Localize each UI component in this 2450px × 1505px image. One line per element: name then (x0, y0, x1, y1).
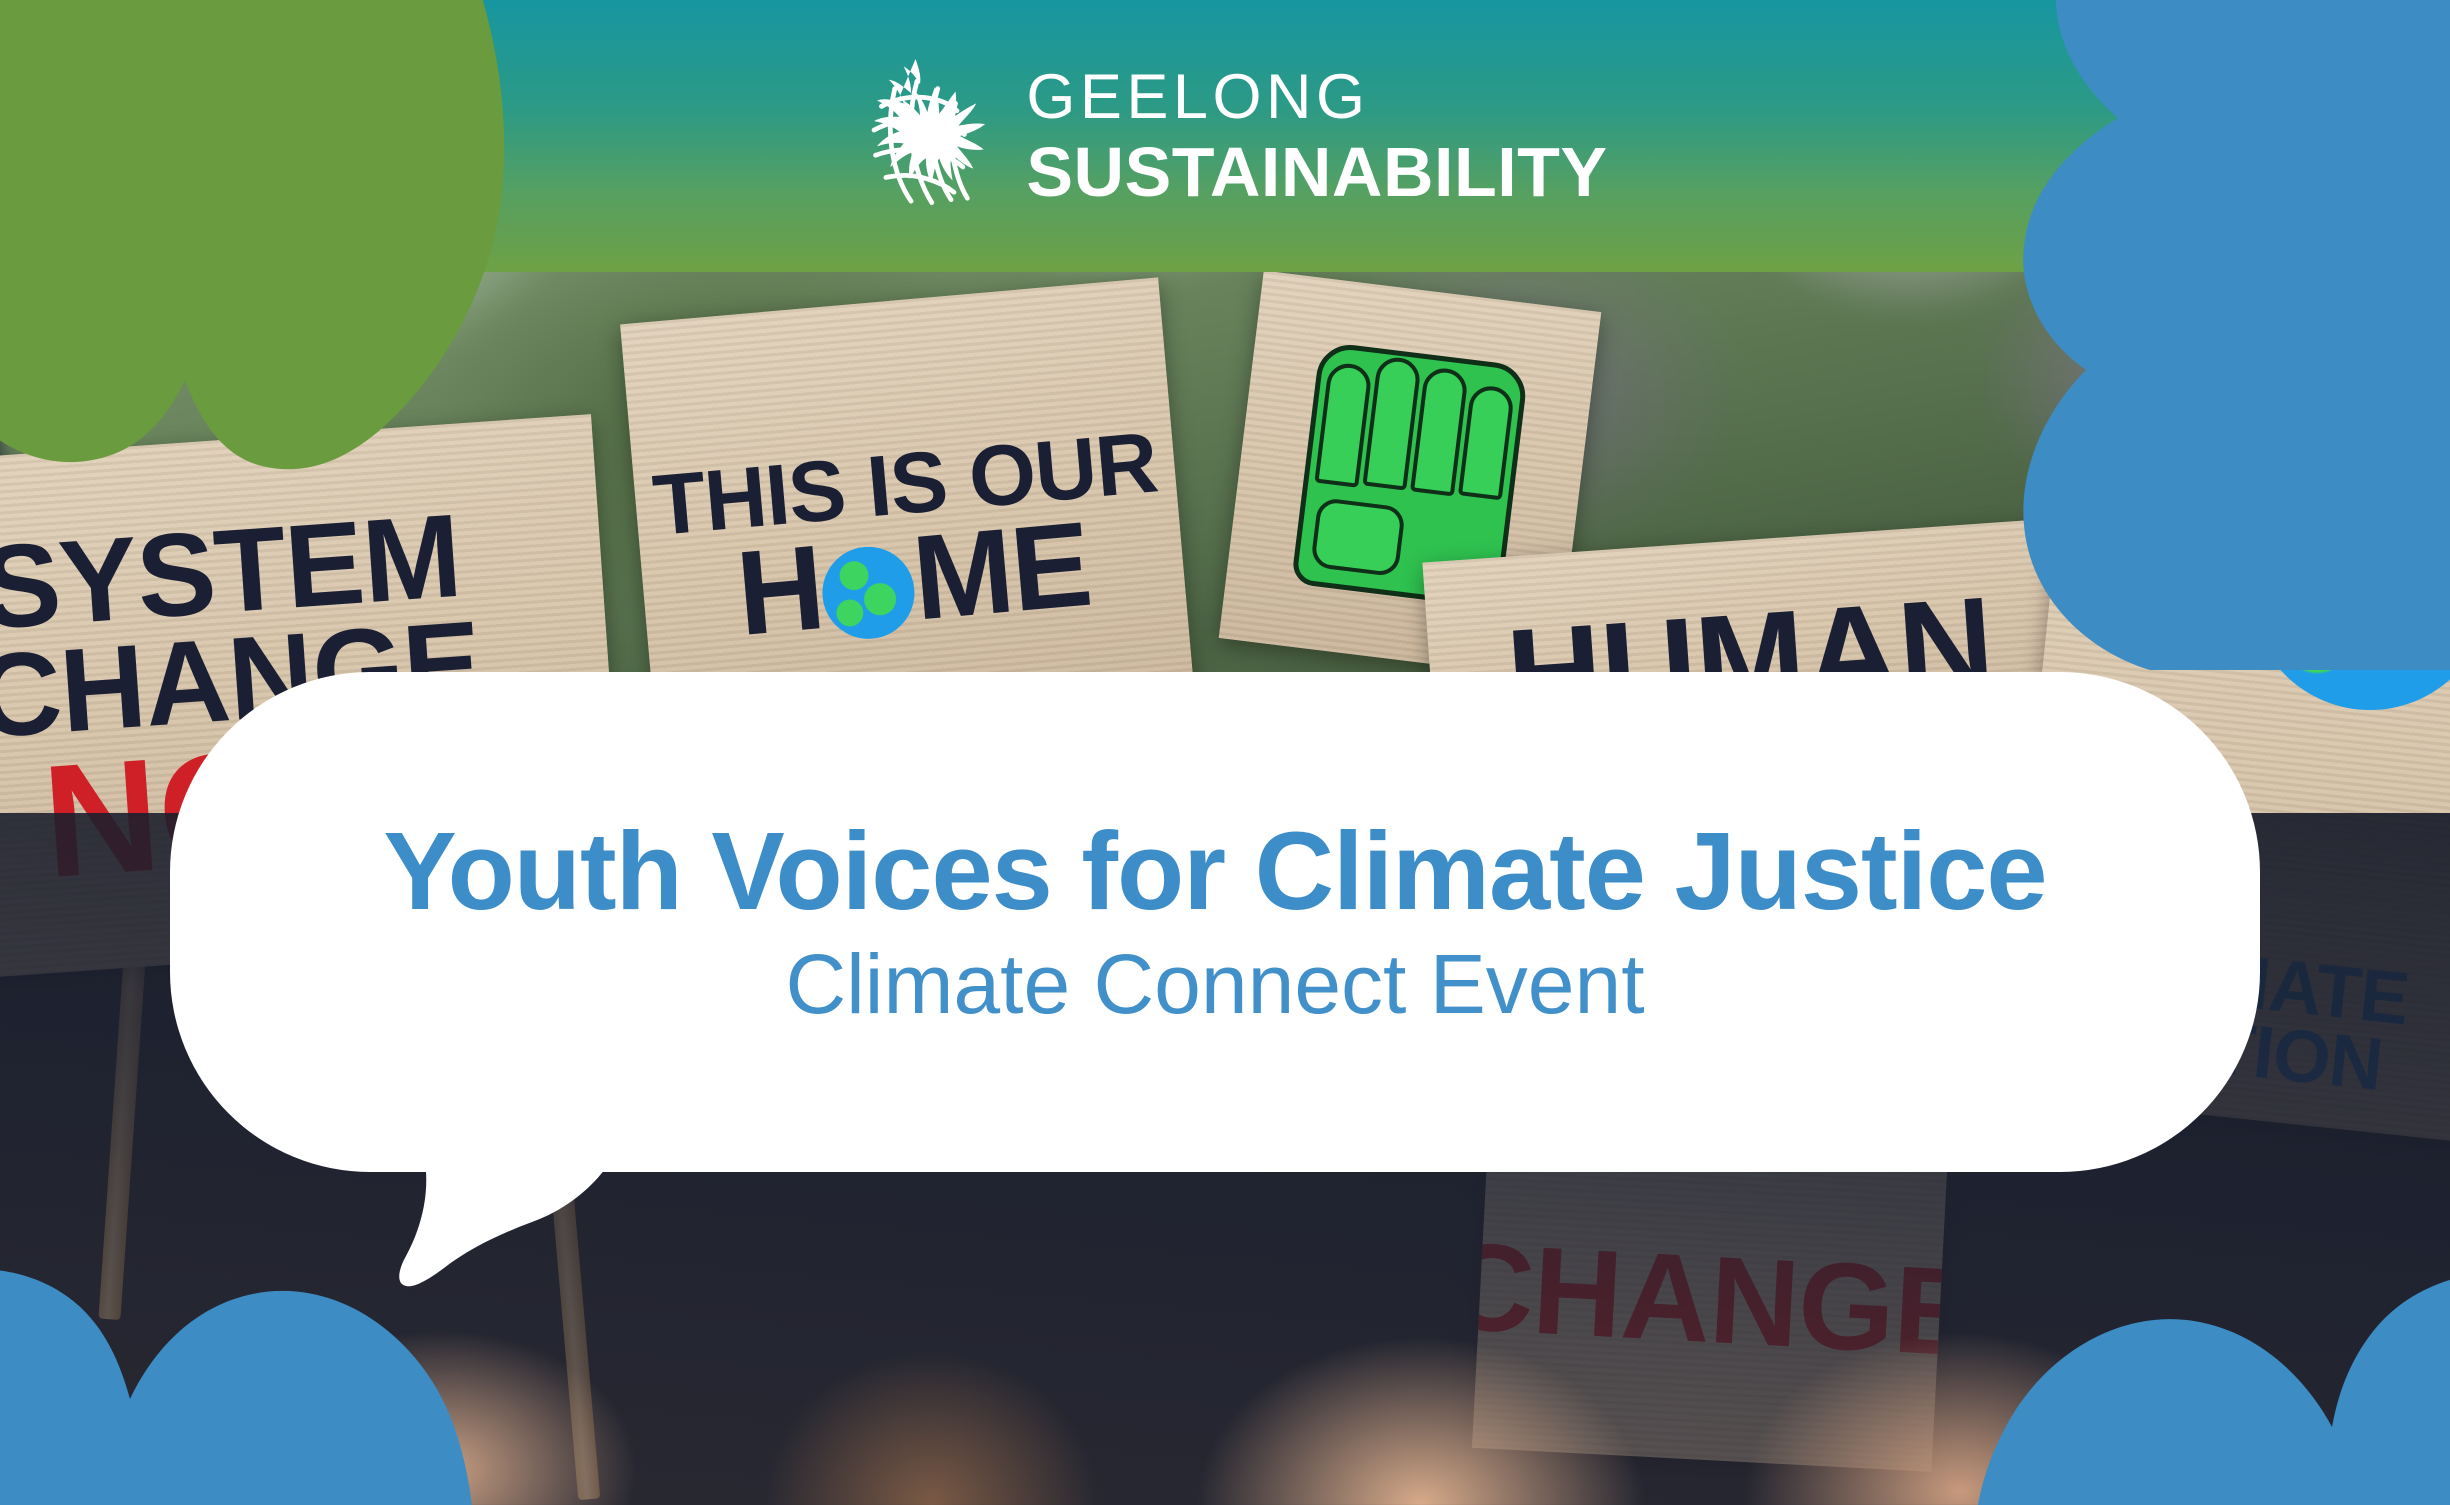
event-subtitle: Climate Connect Event (785, 940, 1644, 1028)
brand-header-bar: GEELONG SUSTAINABILITY (0, 0, 2450, 272)
geelong-sustainability-logo-icon (842, 56, 992, 216)
brand-name-line-2: SUSTAINABILITY (1026, 137, 1607, 207)
event-title-speech-bubble: Youth Voices for Climate Justice Climate… (170, 672, 2260, 1292)
brand-wordmark: GEELONG SUSTAINABILITY (1026, 66, 1607, 207)
event-promo-poster: SYSTEM CHANGE NOW THIS IS OUR HME HUMAN (0, 0, 2450, 1505)
event-title: Youth Voices for Climate Justice (383, 816, 2046, 928)
brand-name-line-1: GEELONG (1026, 66, 1607, 129)
globe-icon (819, 543, 919, 643)
event-title-block: Youth Voices for Climate Justice Climate… (170, 672, 2260, 1172)
